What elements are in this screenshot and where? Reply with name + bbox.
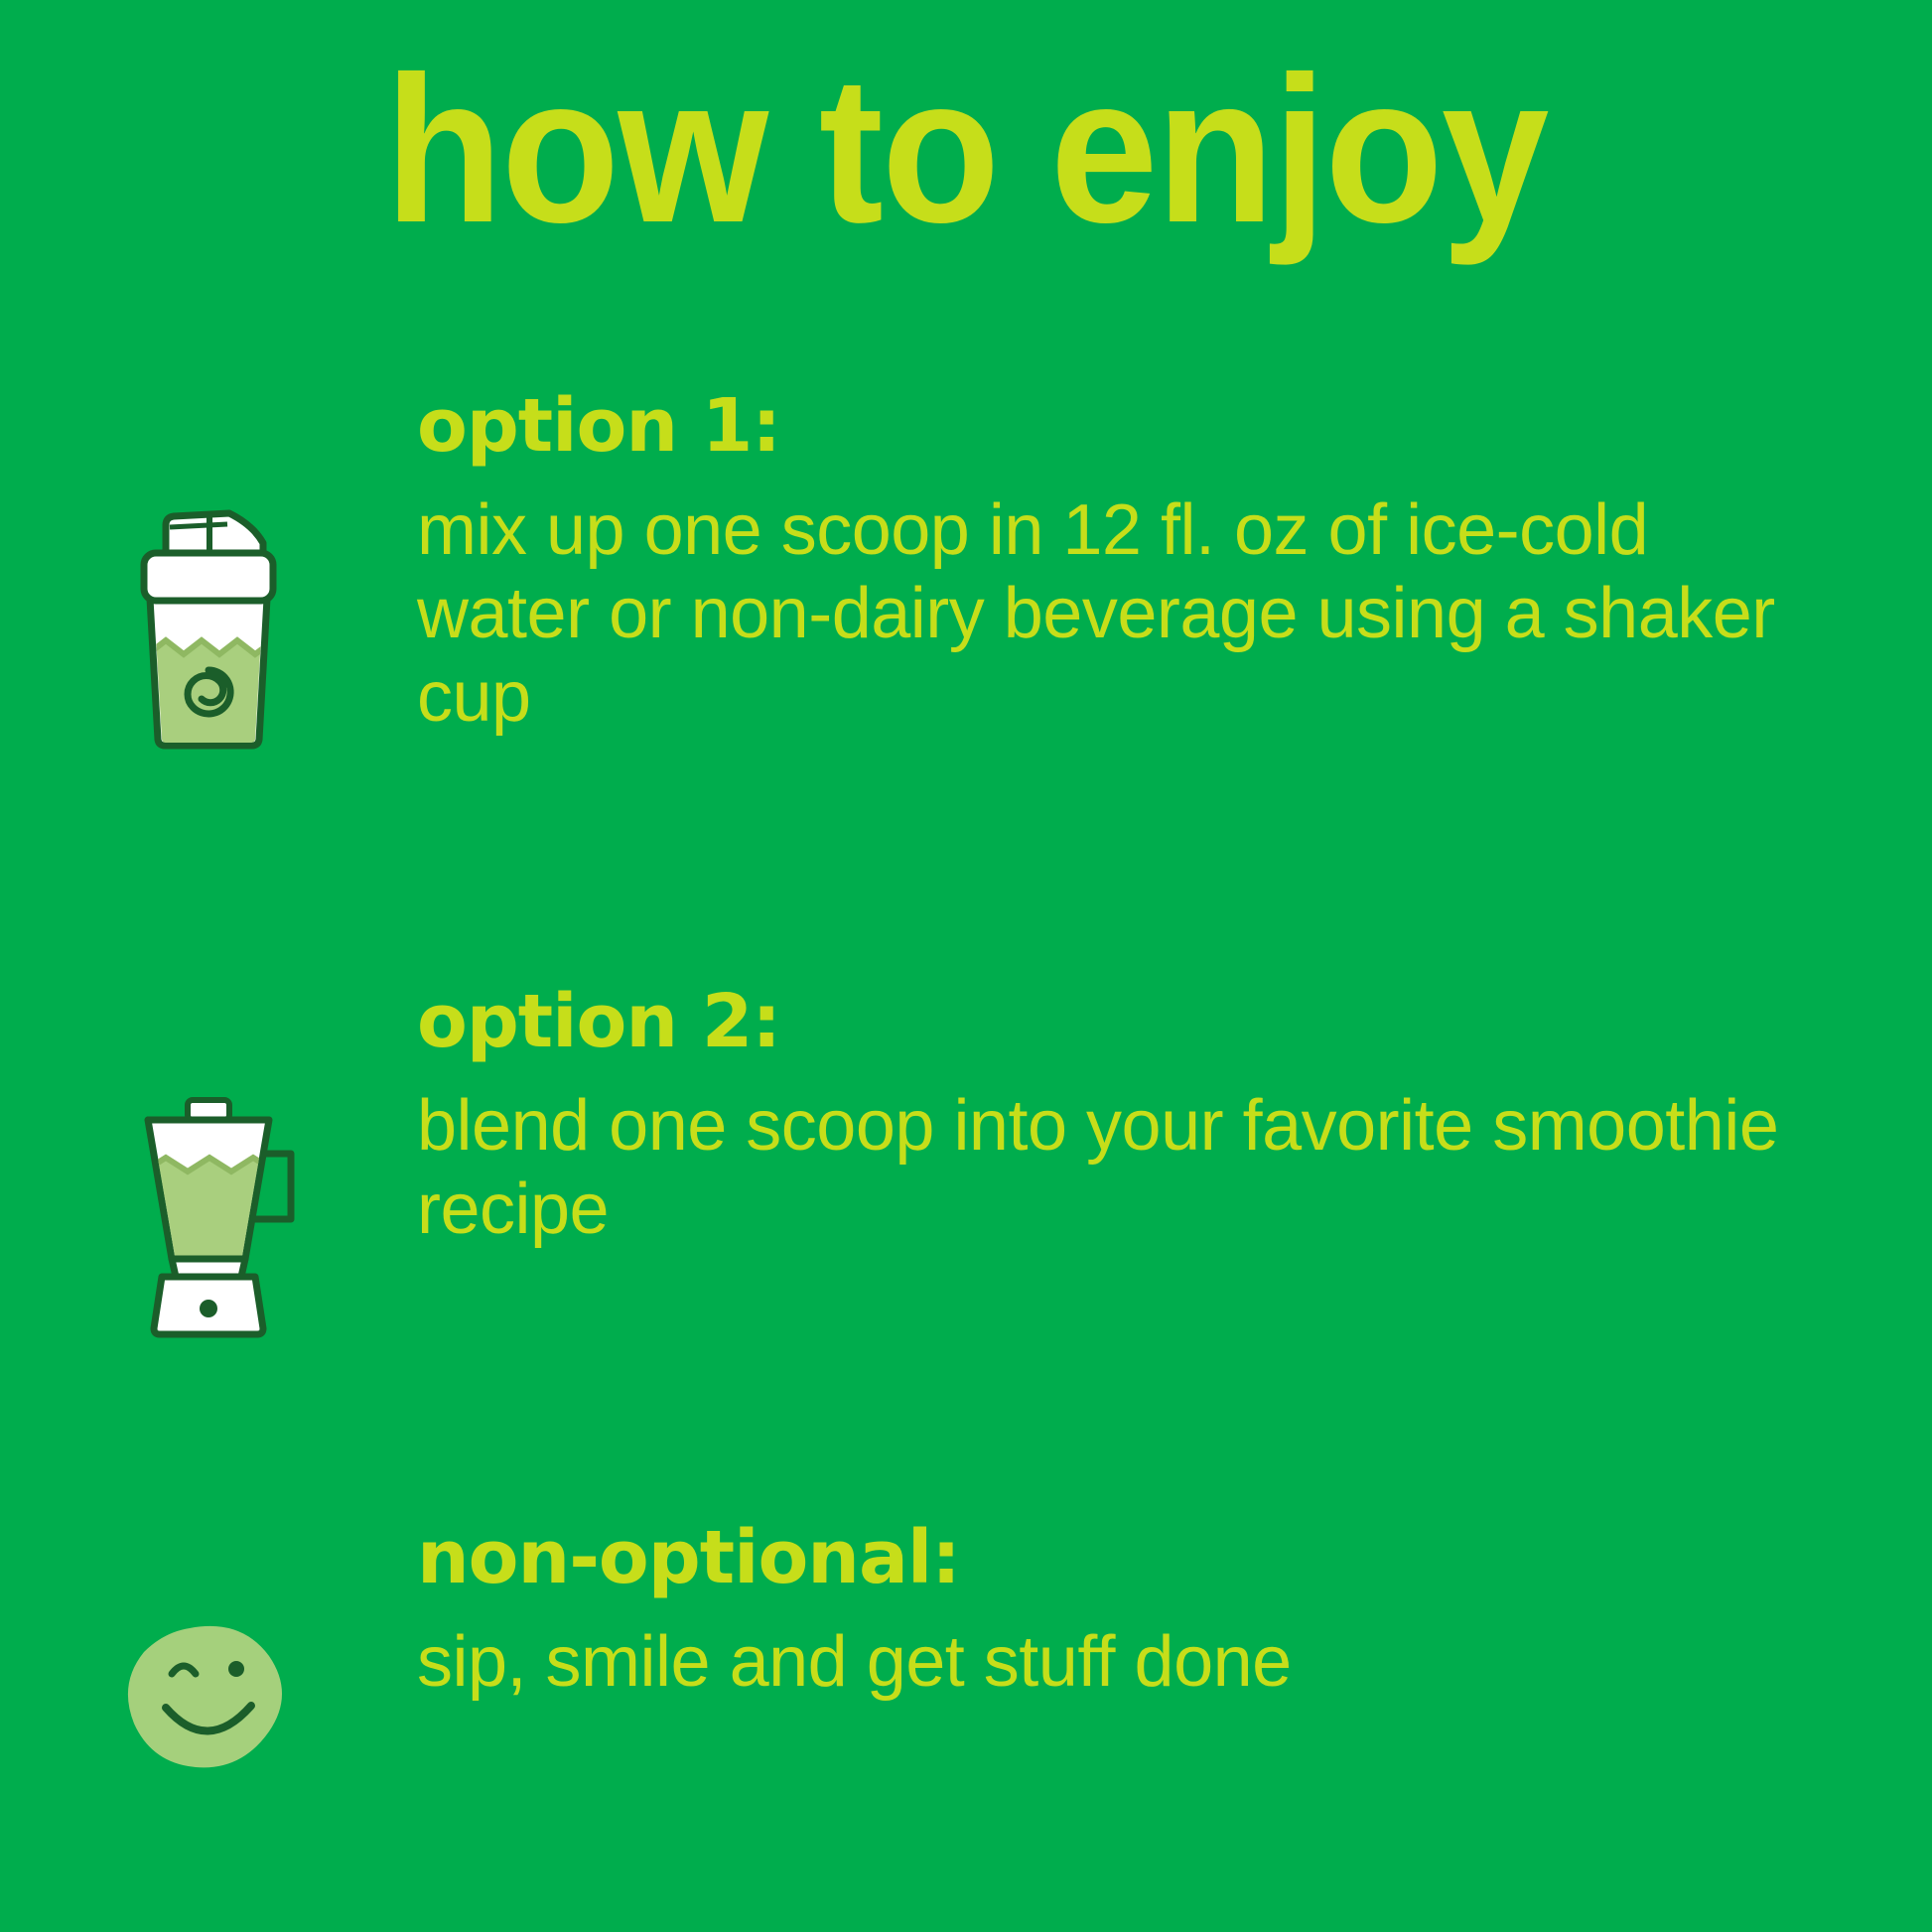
option-icon-container <box>0 389 417 752</box>
option-text-container: option 2: blend one scoop into your favo… <box>417 985 1932 1251</box>
shaker-cup-icon <box>114 503 303 752</box>
option-text-container: option 1: mix up one scoop in 12 fl. oz … <box>417 389 1932 740</box>
option-body: sip, smile and get stuff done <box>417 1620 1813 1704</box>
how-to-enjoy-card: how to enjoy <box>0 0 1932 1932</box>
option-text-container: non-optional: sip, smile and get stuff d… <box>417 1521 1932 1704</box>
option-body: blend one scoop into your favorite smoot… <box>417 1084 1813 1251</box>
option-body: mix up one scoop in 12 fl. oz of ice-col… <box>417 488 1813 740</box>
blender-icon <box>114 1092 303 1340</box>
option-heading: option 1: <box>417 389 1813 463</box>
option-row: option 2: blend one scoop into your favo… <box>0 985 1932 1340</box>
option-row: option 1: mix up one scoop in 12 fl. oz … <box>0 389 1932 752</box>
smiley-face-icon <box>124 1622 293 1776</box>
option-icon-container <box>0 985 417 1340</box>
option-heading: non-optional: <box>417 1521 1813 1594</box>
option-row: non-optional: sip, smile and get stuff d… <box>0 1521 1932 1776</box>
option-heading: option 2: <box>417 985 1813 1058</box>
option-icon-container <box>0 1521 417 1776</box>
page-title: how to enjoy <box>68 44 1864 256</box>
